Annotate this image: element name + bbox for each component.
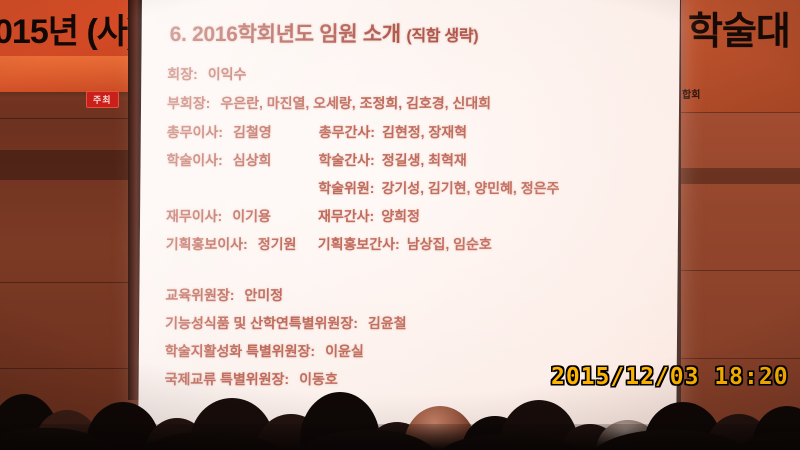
slide-row-secondary: 학술간사:정길생, 최혁재 [318, 150, 466, 170]
role-label: 교육위원장: [165, 287, 234, 303]
role-label: 학술지활성화 특별위원장: [165, 343, 315, 359]
conference-photo: 015년 (사) 주최 학술대 합회 6. 2016학회년도 임원 소개 (직함… [0, 0, 800, 450]
role-names: 이익수 [208, 64, 247, 84]
slide-title-main: 6. 2016학회년도 임원 소개 [170, 23, 401, 46]
wall-right-seam-2 [676, 270, 800, 271]
role-names: 강기성, 김기현, 양민혜, 정은주 [381, 178, 559, 198]
role-label: 회장: [167, 66, 198, 82]
role-names: 우은란, 마진열, 오세랑, 조정희, 김호경, 신대희 [220, 93, 491, 113]
role-names: 정기원 [258, 234, 297, 254]
slide-row-primary: 부회장:우은란, 마진열, 오세랑, 조정희, 김호경, 신대희 [167, 93, 491, 113]
role-names: 김현정, 장재혁 [382, 122, 467, 142]
slide-title: 6. 2016학회년도 임원 소개 (직함 생략) [170, 18, 479, 48]
role-label: 기획홍보간사: [318, 236, 400, 252]
role-names: 이동호 [299, 369, 338, 389]
wall-right-seam-1 [676, 112, 800, 113]
role-label: 부회장: [167, 95, 210, 111]
role-label: 총무이사: [167, 124, 223, 140]
role-names: 이기용 [232, 206, 271, 226]
banner-right-title: 학술대 [688, 0, 800, 55]
role-names: 정길생, 최혁재 [382, 150, 467, 170]
banner-left-highlight [0, 56, 142, 102]
slide-row-primary: 기획홍보이사:정기원 [166, 234, 297, 254]
slide-row-secondary: 총무간사:김현정, 장재혁 [319, 122, 467, 142]
slide-row-secondary: 재무간사:양희정 [318, 206, 420, 226]
wall-right-seam-3 [676, 358, 800, 359]
role-names: 양희정 [381, 206, 420, 226]
wall-right-beam [676, 168, 800, 184]
slide-row-primary: 회장:이익수 [167, 64, 246, 84]
slide-row-primary: 국제교류 특별위원장:이동호 [165, 369, 338, 389]
role-names: 안미정 [244, 285, 283, 305]
slide-row-primary: 학술지활성화 특별위원장:이윤실 [165, 341, 364, 361]
role-names: 김철영 [233, 122, 272, 142]
role-names: 김윤철 [368, 313, 407, 333]
role-label: 재무이사: [166, 208, 222, 224]
role-label: 학술이사: [166, 152, 222, 168]
role-names: 심상희 [233, 150, 272, 170]
slide-row-secondary: 기획홍보간사:남상집, 임순호 [318, 234, 492, 254]
role-label: 기획홍보이사: [166, 236, 248, 252]
role-label: 기능성식품 및 산학연특별위원장: [165, 315, 358, 331]
role-label: 총무간사: [319, 124, 375, 140]
role-label: 국제교류 특별위원장: [165, 371, 290, 387]
host-label: 주최 [86, 91, 119, 108]
role-names: 이윤실 [325, 341, 364, 361]
slide-row-secondary: 학술위원:강기성, 김기현, 양민혜, 정은주 [318, 178, 559, 198]
camera-timestamp: 2015/12/03 18:20 [551, 364, 789, 390]
role-label: 학술위원: [318, 180, 374, 196]
slide-row-primary: 기능성식품 및 산학연특별위원장:김윤철 [165, 313, 407, 333]
slide-row-primary: 학술이사:심상희 [166, 150, 271, 170]
slide-row-primary: 총무이사:김철영 [167, 122, 272, 142]
slide-row-primary: 재무이사:이기용 [166, 206, 271, 226]
role-label: 학술간사: [318, 152, 374, 168]
slide-title-parenthetical: (직함 생략) [406, 28, 478, 45]
role-names: 남상집, 임순호 [407, 234, 492, 254]
slide-row-primary: 교육위원장:안미정 [165, 285, 283, 305]
banner-right-subtitle: 합회 [682, 86, 700, 101]
role-label: 재무간사: [318, 208, 374, 224]
